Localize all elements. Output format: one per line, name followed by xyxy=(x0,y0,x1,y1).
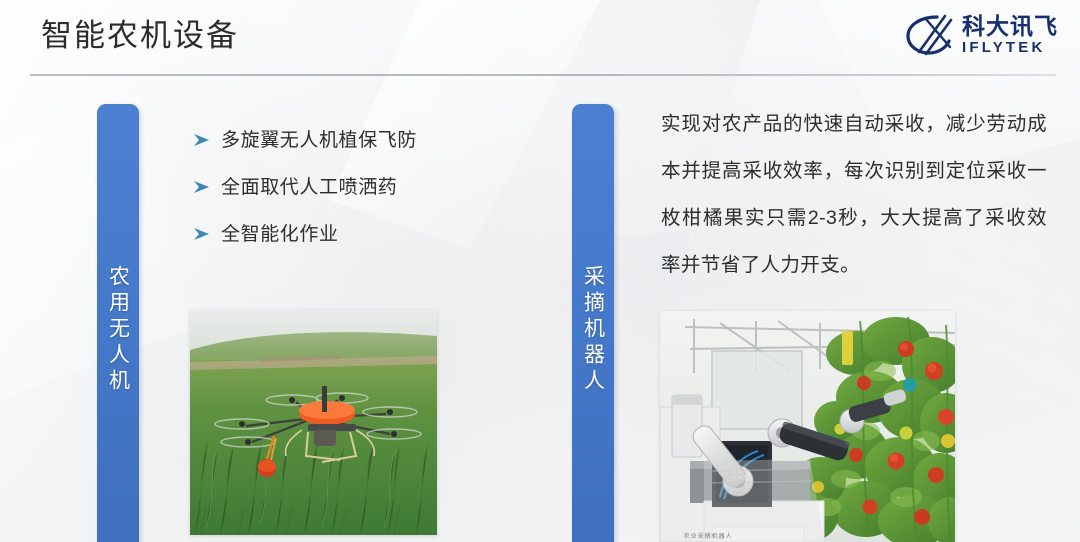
section-paragraph-robot: 实现对农产品的快速自动采收，减少劳动成本并提高采收效率，每次识别到定位采收一枚柑… xyxy=(661,101,1047,289)
slide-root: 智能农机设备 科大讯飞 IFLYTEK 农用无人机 多旋翼无人机植保飞防 xyxy=(0,0,1080,542)
iflytek-x-mark-icon xyxy=(905,14,955,56)
photo-agricultural-drone xyxy=(190,310,437,535)
list-item: 全面取代人工喷洒药 xyxy=(192,175,522,201)
photo-picking-robot: 农业采摘机器人 xyxy=(660,311,955,542)
list-item-label: 全智能化作业 xyxy=(221,222,339,248)
list-item-label: 多旋翼无人机植保飞防 xyxy=(221,128,417,154)
page-title: 智能农机设备 xyxy=(41,14,239,58)
logo-cn-name: 科大讯飞 xyxy=(962,15,1058,38)
bullet-list-drone: 多旋翼无人机植保飞防 全面取代人工喷洒药 全智能化作业 xyxy=(192,128,522,269)
list-item: 多旋翼无人机植保飞防 xyxy=(192,128,522,154)
logo-en-name: IFLYTEK xyxy=(962,40,1058,55)
title-divider xyxy=(30,74,1056,76)
section-bar-label-robot: 采摘机器人 xyxy=(583,265,604,395)
section-bar-robot: 采摘机器人 xyxy=(572,104,614,542)
arrow-right-triangle-icon xyxy=(192,227,212,241)
photo-caption-robot: 农业采摘机器人 xyxy=(684,531,733,540)
section-bar-label-drone: 农用无人机 xyxy=(108,265,129,395)
list-item: 全智能化作业 xyxy=(192,222,522,248)
iflytek-logo: 科大讯飞 IFLYTEK xyxy=(905,8,1058,62)
arrow-right-triangle-icon xyxy=(192,133,212,147)
list-item-label: 全面取代人工喷洒药 xyxy=(221,175,397,201)
arrow-right-triangle-icon xyxy=(192,180,212,194)
logo-wordmark: 科大讯飞 IFLYTEK xyxy=(962,15,1058,55)
section-bar-drone: 农用无人机 xyxy=(97,104,139,542)
